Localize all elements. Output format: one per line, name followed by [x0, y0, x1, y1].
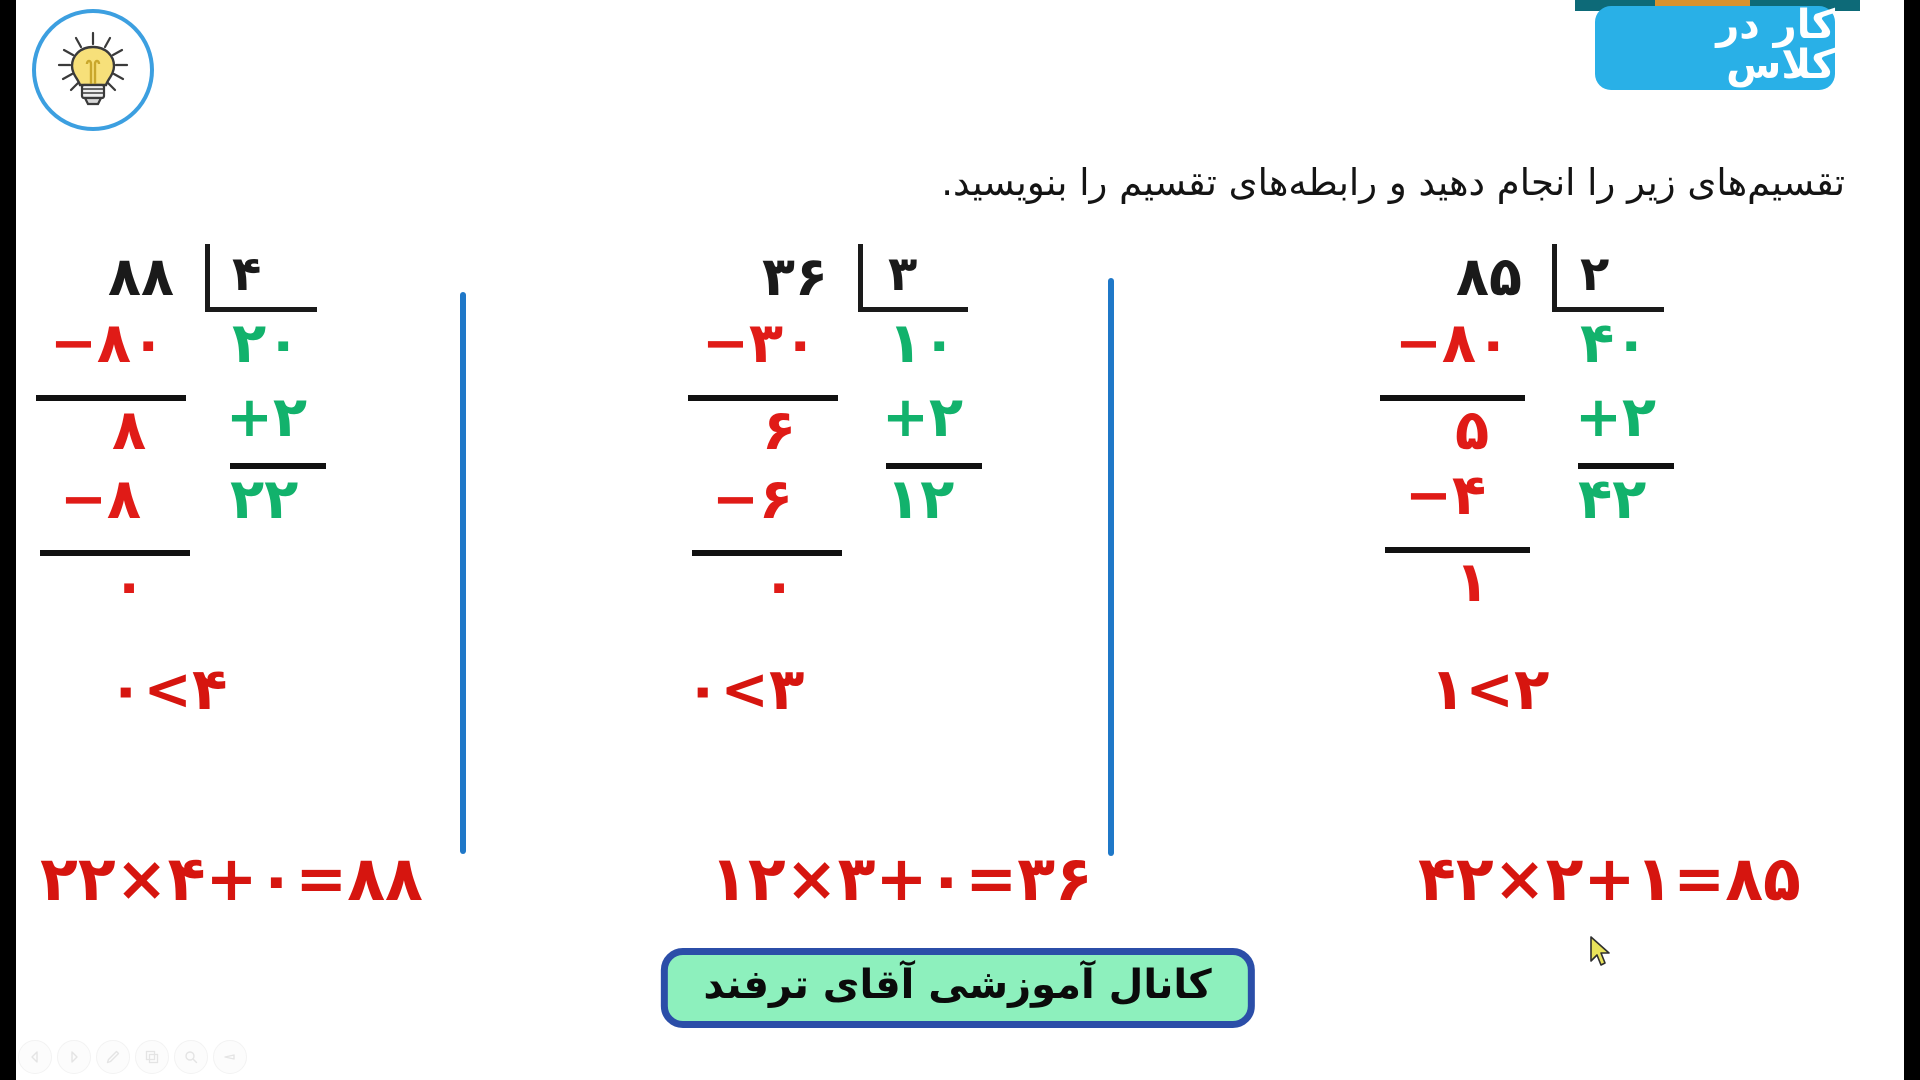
partial-quotient-1: ۲۰: [232, 316, 300, 372]
remainder-final: ۱: [1455, 555, 1489, 611]
remainder-final: ۰: [762, 558, 796, 614]
division-equation-85: ۴۲×۲+۱=۸۵: [1418, 842, 1801, 915]
channel-banner: کانال آموزشی آقای ترفند: [660, 948, 1254, 1028]
letterbox-right: [1904, 0, 1920, 1080]
subtract-step-1: −۸۰: [50, 316, 165, 372]
remainder-comparison: ۱<۲: [1430, 660, 1549, 718]
pages-icon[interactable]: [135, 1040, 169, 1074]
slide-page: کار در کلاس: [10, 0, 1905, 1080]
subtraction-rule-1: [1380, 395, 1525, 401]
zoom-icon[interactable]: [174, 1040, 208, 1074]
instruction-text: تقسیم‌های زیر را انجام دهید و رابطه‌های …: [645, 158, 1845, 208]
quotient: ۲۲: [230, 472, 298, 528]
classwork-badge: کار در کلاس: [1595, 6, 1835, 90]
letterbox-left: [0, 0, 16, 1080]
viewer-toolbar: [18, 1040, 247, 1074]
classwork-badge-label: کار در کلاس: [1595, 5, 1835, 91]
quotient: ۴۲: [1578, 472, 1646, 528]
dividend: ۸۸: [108, 250, 174, 304]
subtraction-rule-1: [36, 395, 186, 401]
pen-icon[interactable]: [96, 1040, 130, 1074]
division-equation-88: ۲۲×۴+۰=۸۸: [40, 842, 423, 915]
subtract-step-2: −۶: [712, 472, 793, 528]
division-bracket-vertical: [205, 244, 210, 312]
subtract-step-1: −۸۰: [1395, 316, 1510, 372]
division-equation-36: ۱۲×۳+۰=۳۶: [710, 842, 1093, 915]
previous-page-icon[interactable]: [18, 1040, 52, 1074]
quotient: ۱۲: [886, 472, 954, 528]
divisor: ۲: [1580, 250, 1609, 298]
slide-stage: کار در کلاس: [0, 0, 1920, 1080]
remainder-1: ۸: [112, 403, 146, 459]
next-page-icon[interactable]: [57, 1040, 91, 1074]
remainder-1: ۵: [1455, 403, 1489, 459]
divisor: ۴: [232, 250, 261, 298]
lightbulb-icon: [32, 9, 154, 131]
subtract-step-1: −۳۰: [702, 316, 817, 372]
partial-quotient-1: ۱۰: [888, 316, 956, 372]
remainder-comparison: ۰<۳: [685, 660, 804, 718]
partial-quotient-2: +۲: [1575, 390, 1656, 446]
division-bracket-vertical: [858, 244, 863, 312]
division-bracket-vertical: [1552, 244, 1557, 312]
remainder-comparison: ۰<۴: [108, 660, 227, 718]
partial-quotient-2: +۲: [226, 390, 307, 446]
partial-quotient-2: +۲: [882, 390, 963, 446]
remainder-final: ۰: [112, 558, 146, 614]
divisor: ۳: [888, 250, 917, 298]
channel-banner-label: کانال آموزشی آقای ترفند: [703, 965, 1211, 1005]
remainder-1: ۶: [762, 403, 796, 459]
dividend: ۸۵: [1456, 250, 1522, 304]
partial-quotient-1: ۴۰: [1580, 316, 1648, 372]
pointer-icon[interactable]: [213, 1040, 247, 1074]
subtract-step-2: −۴: [1405, 468, 1486, 524]
dividend: ۳۶: [762, 250, 828, 304]
subtract-step-2: −۸: [60, 472, 141, 528]
